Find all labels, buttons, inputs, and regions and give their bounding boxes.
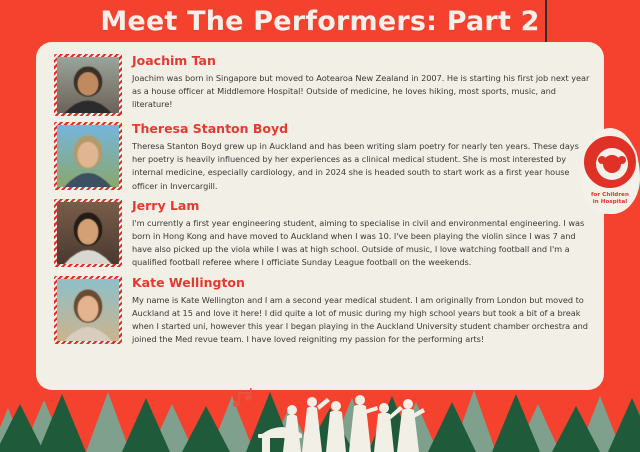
performer-row: Theresa Stanton Boyd Theresa Stanton Boy… — [54, 122, 590, 193]
radio-lollipop-badge: for Children in Hospital — [580, 128, 640, 214]
jerry-lam-photo — [57, 202, 119, 264]
badge-disc — [582, 134, 638, 190]
badge-tagline-line1: for Children — [580, 192, 640, 198]
performer-name: Theresa Stanton Boyd — [132, 122, 590, 136]
pine-tree-band — [0, 386, 640, 452]
performer-text: Theresa Stanton Boyd Theresa Stanton Boy… — [132, 122, 590, 193]
performer-row: Jerry Lam I'm currently a first year eng… — [54, 199, 590, 270]
performer-bio: Theresa Stanton Boyd grew up in Auckland… — [132, 140, 590, 193]
poster-stage: Meet The Performers: Part 2 — [0, 0, 640, 452]
performer-bio: I'm currently a first year engineering s… — [132, 217, 590, 270]
performer-photo-frame — [54, 54, 122, 116]
performer-bio: Joachim was born in Singapore but moved … — [132, 72, 590, 112]
joachim-tan-photo — [57, 57, 119, 113]
performer-photo-frame — [54, 276, 122, 344]
performer-bio: My name is Kate Wellington and I am a se… — [132, 294, 590, 347]
performer-name: Joachim Tan — [132, 54, 590, 68]
performer-text: Jerry Lam I'm currently a first year eng… — [132, 199, 590, 270]
performer-name: Jerry Lam — [132, 199, 590, 213]
performer-photo-frame — [54, 122, 122, 190]
performer-text: Kate Wellington My name is Kate Wellingt… — [132, 276, 590, 347]
performers-card: Joachim Tan Joachim was born in Singapor… — [36, 42, 604, 390]
performer-row: Kate Wellington My name is Kate Wellingt… — [54, 276, 590, 347]
badge-tagline-line2: in Hospital — [580, 199, 640, 205]
performer-photo-frame — [54, 199, 122, 267]
trees-svg — [0, 386, 640, 452]
kate-wellington-photo — [57, 279, 119, 341]
theresa-stanton-boyd-photo — [57, 125, 119, 187]
performer-row: Joachim Tan Joachim was born in Singapor… — [54, 54, 590, 116]
lollipop-flower-icon — [603, 155, 621, 173]
performer-name: Kate Wellington — [132, 276, 590, 290]
performer-text: Joachim Tan Joachim was born in Singapor… — [132, 54, 590, 112]
page-title: Meet The Performers: Part 2 — [0, 6, 640, 37]
music-notes-icon — [233, 388, 252, 407]
